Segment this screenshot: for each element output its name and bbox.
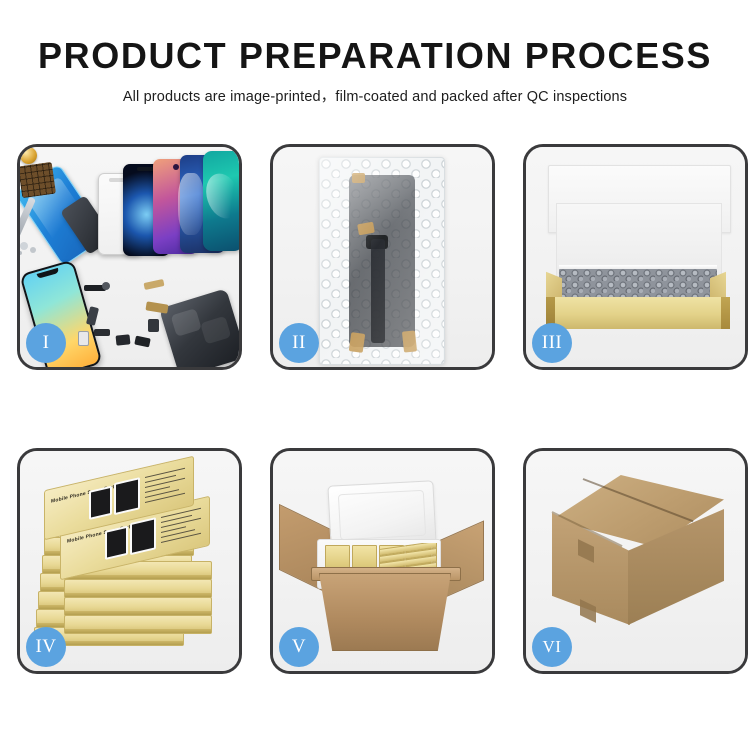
box-front-panel <box>546 297 730 329</box>
spare-part <box>143 279 164 290</box>
step-badge-2: II <box>279 323 319 363</box>
box-window <box>89 486 112 520</box>
phone-screen-teal <box>203 151 242 251</box>
process-step-panel-6[interactable]: VI <box>523 448 748 674</box>
stacked-box <box>64 597 212 616</box>
gold-coin-part <box>20 147 37 164</box>
flex-cable <box>371 239 385 343</box>
step-badge-6: VI <box>532 627 572 667</box>
page-title: PRODUCT PREPARATION PROCESS <box>0 0 750 75</box>
stacked-box <box>64 579 212 598</box>
box-window <box>105 526 128 560</box>
process-step-panel-2[interactable]: II <box>270 144 495 370</box>
spare-part <box>78 331 89 346</box>
spare-part <box>148 319 159 332</box>
screw-set <box>20 242 28 250</box>
phone-back-housing <box>159 288 242 370</box>
step-badge-3: III <box>532 323 572 363</box>
box-spec-lines <box>145 468 185 505</box>
process-step-panel-4[interactable]: Mobile Phone Spare Parts Mobile Phone Sp… <box>17 448 242 674</box>
spare-part <box>94 329 110 336</box>
spare-part <box>116 334 131 345</box>
carton-body <box>319 573 451 651</box>
spare-part <box>86 306 99 326</box>
box-spec-lines <box>161 508 201 545</box>
adhesive-tape <box>352 173 365 183</box>
process-step-grid: I II III <box>17 144 733 674</box>
spare-part <box>134 336 151 348</box>
spare-part <box>145 301 168 313</box>
chip-grid-board <box>18 162 56 198</box>
step-badge-4: IV <box>26 627 66 667</box>
step-badge-5: V <box>279 627 319 667</box>
box-window <box>130 517 156 555</box>
step-badge-1: I <box>26 323 66 363</box>
spare-part <box>102 282 110 290</box>
page-subtitle: All products are image-printed，film-coat… <box>0 75 750 106</box>
stacked-box <box>64 615 212 634</box>
process-step-panel-5[interactable]: V <box>270 448 495 674</box>
page-header: PRODUCT PREPARATION PROCESS All products… <box>0 0 750 106</box>
adhesive-tape <box>349 332 366 353</box>
process-step-panel-3[interactable]: III <box>523 144 748 370</box>
box-window <box>114 477 140 515</box>
adhesive-tape <box>402 330 417 352</box>
process-step-panel-1[interactable]: I <box>17 144 242 370</box>
